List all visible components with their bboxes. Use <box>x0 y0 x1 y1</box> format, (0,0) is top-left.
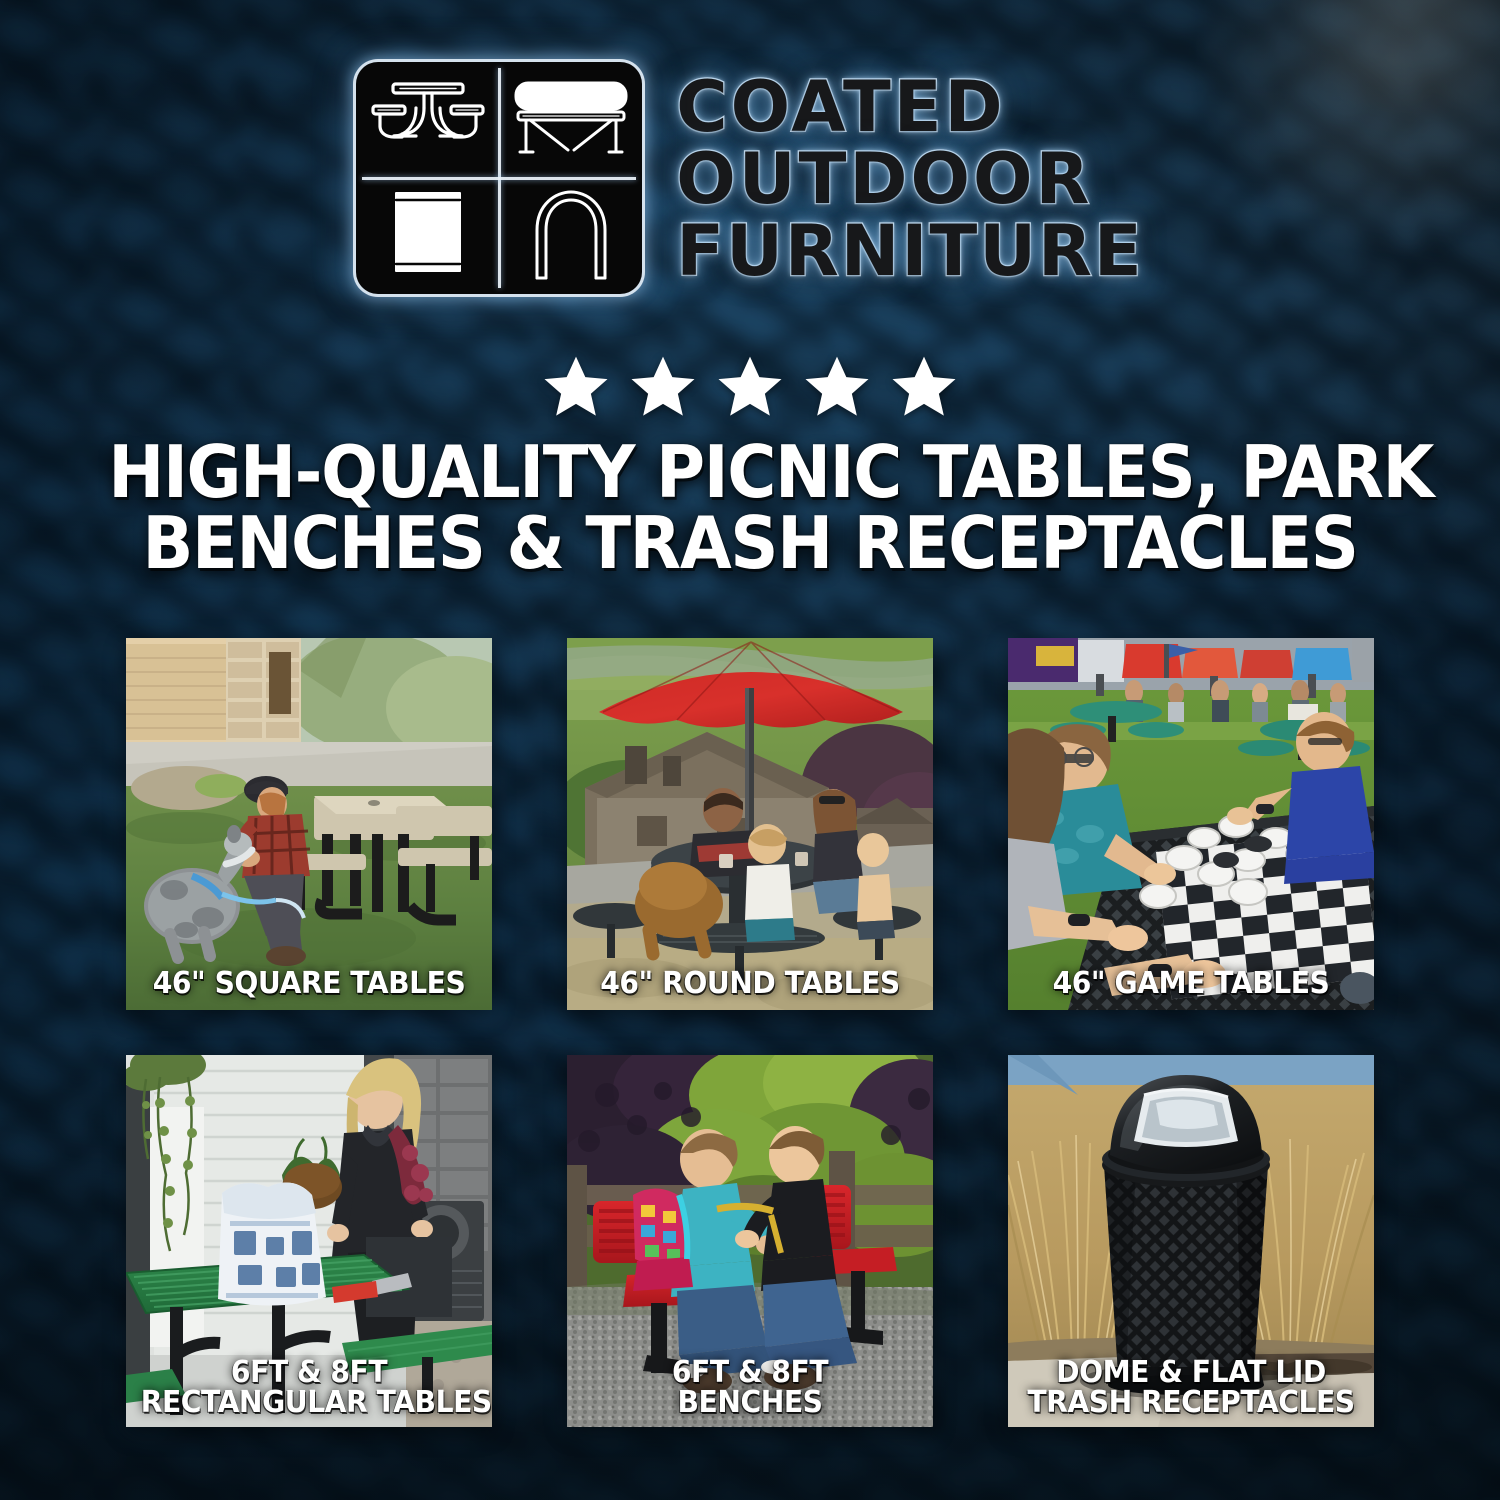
star-icon <box>626 352 700 422</box>
park-bench-icon <box>499 62 642 178</box>
product-tile-game-tables[interactable]: 46" GAME TABLES <box>1008 638 1374 1010</box>
page-title: HIGH-QUALITY PICNIC TABLES, PARK BENCHES… <box>108 437 1391 580</box>
product-tile-round-tables[interactable]: 46" ROUND TABLES <box>567 638 933 1010</box>
brand-name-line-3: FURNITURE <box>676 216 1144 286</box>
caption-line-1: 6FT & 8FT <box>141 1358 478 1389</box>
caption-line-2: TRASH RECEPTACLES <box>1023 1388 1360 1419</box>
product-tile-rectangular-tables[interactable]: 6FT & 8FT RECTANGULAR TABLES <box>126 1055 492 1427</box>
caption-line-2: RECTANGULAR TABLES <box>141 1388 478 1419</box>
brand-header: COATED OUTDOOR FURNITURE <box>0 62 1500 294</box>
product-tile-trash-receptacles[interactable]: DOME & FLAT LID TRASH RECEPTACLES <box>1008 1055 1374 1427</box>
promotional-poster: COATED OUTDOOR FURNITURE HIGH-QUALITY PI… <box>0 0 1500 1500</box>
star-rating <box>0 352 1500 422</box>
bike-rack-arch-icon <box>499 178 642 294</box>
product-photo-round-tables <box>567 638 933 1010</box>
product-photo-game-tables <box>1008 638 1374 1010</box>
product-caption-square-tables: 46" SQUARE TABLES <box>141 969 478 1000</box>
headline-line-1: HIGH-QUALITY PICNIC TABLES, PARK <box>108 437 1391 508</box>
logo-divider-horizontal <box>362 177 636 180</box>
caption-line-1: 46" ROUND TABLES <box>582 969 919 1000</box>
brand-wordmark: COATED OUTDOOR FURNITURE <box>676 70 1144 286</box>
product-caption-rectangular-tables: 6FT & 8FT RECTANGULAR TABLES <box>141 1358 478 1419</box>
product-caption-game-tables: 46" GAME TABLES <box>1023 969 1360 1000</box>
brand-logo-mark <box>356 62 642 294</box>
brand-name-line-2: OUTDOOR <box>676 144 1144 214</box>
product-caption-trash-receptacles: DOME & FLAT LID TRASH RECEPTACLES <box>1023 1358 1360 1419</box>
product-tile-benches[interactable]: 6FT & 8FT BENCHES <box>567 1055 933 1427</box>
product-caption-benches: 6FT & 8FT BENCHES <box>582 1358 919 1419</box>
caption-line-1: 6FT & 8FT <box>582 1358 919 1389</box>
product-tile-square-tables[interactable]: 46" SQUARE TABLES <box>126 638 492 1010</box>
star-icon <box>713 352 787 422</box>
product-caption-round-tables: 46" ROUND TABLES <box>582 969 919 1000</box>
picnic-table-icon <box>356 62 499 178</box>
star-icon <box>800 352 874 422</box>
caption-line-2: BENCHES <box>582 1388 919 1419</box>
caption-line-1: 46" GAME TABLES <box>1023 969 1360 1000</box>
headline-line-2: BENCHES & TRASH RECEPTACLES <box>108 508 1391 579</box>
trash-receptacle-icon <box>356 178 499 294</box>
star-icon <box>887 352 961 422</box>
brand-name-line-1: COATED <box>676 72 1144 142</box>
caption-line-1: DOME & FLAT LID <box>1023 1358 1360 1389</box>
caption-line-1: 46" SQUARE TABLES <box>141 969 478 1000</box>
star-icon <box>539 352 613 422</box>
product-photo-square-tables <box>126 638 492 1010</box>
product-grid: 46" SQUARE TABLES <box>126 638 1374 1427</box>
